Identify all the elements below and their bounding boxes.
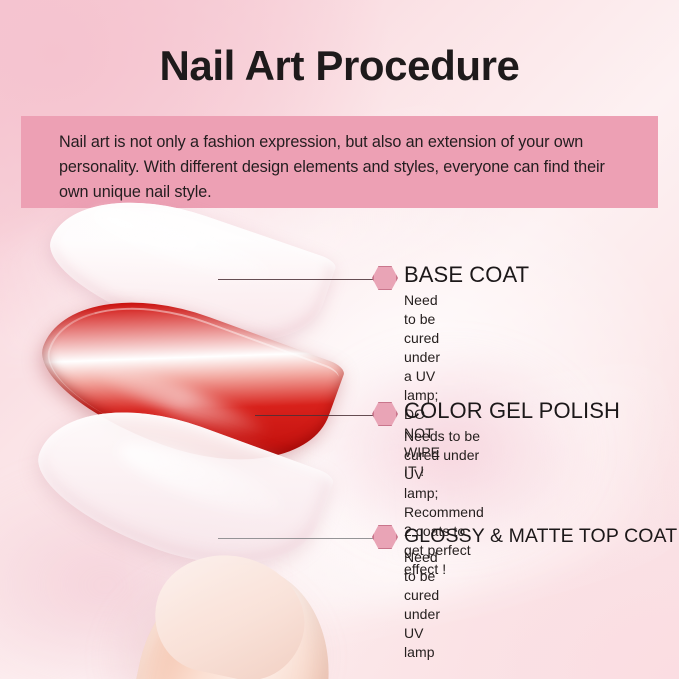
- callout-title-base-coat: BASE COAT: [404, 262, 529, 288]
- callout-title-color-gel-polish: COLOR GEL POLISH: [404, 398, 620, 424]
- fingertip-natural-nail: [145, 542, 317, 679]
- connector-line-color-gel-polish: [255, 415, 376, 416]
- connector-line-glossy-matte-top-coat: [218, 538, 376, 539]
- intro-text: Nail art is not only a fashion expressio…: [59, 130, 620, 205]
- callout-description-glossy-matte-top-coat: Need to be cured under UV lamp: [404, 548, 440, 662]
- page-title: Nail Art Procedure: [0, 41, 679, 91]
- intro-banner: Nail art is not only a fashion expressio…: [21, 116, 658, 208]
- callout-title-glossy-matte-top-coat: GLOSSY & MATTE TOP COAT: [404, 523, 677, 549]
- connector-line-base-coat: [218, 279, 376, 280]
- nail-artwork: [0, 205, 400, 679]
- poster-canvas: Nail Art Procedure Nail art is not only …: [0, 0, 679, 679]
